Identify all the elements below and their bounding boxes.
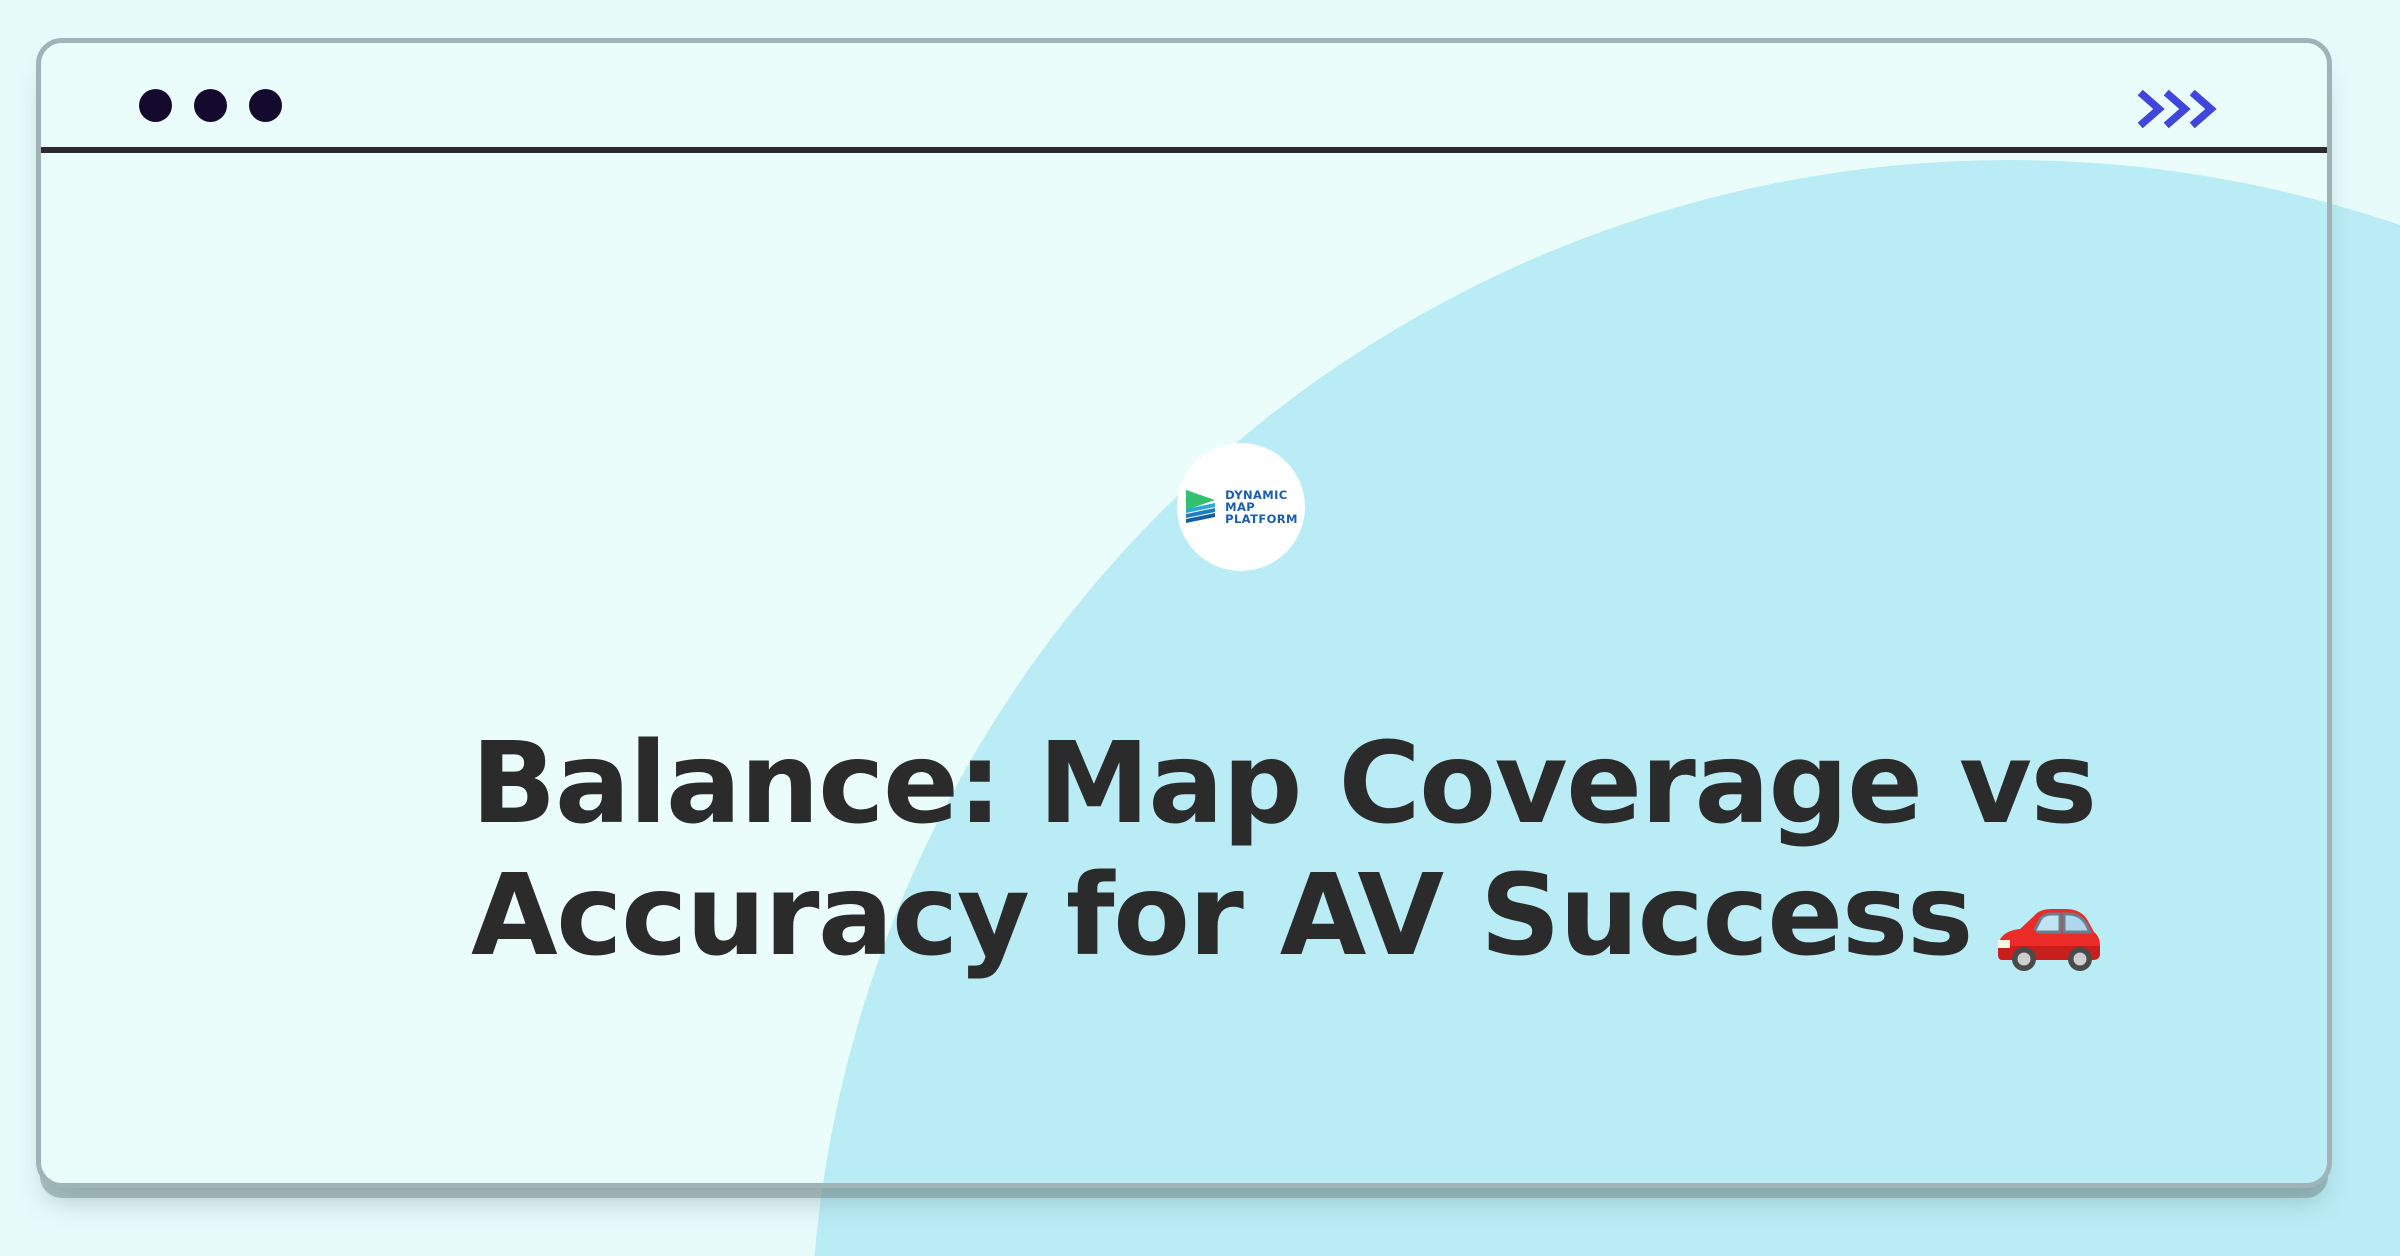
- brand-wordmark: DYNAMIC MAP PLATFORM: [1225, 489, 1298, 525]
- headline-line-2-text: Accuracy for AV Success: [471, 851, 1972, 981]
- double-chevron-right-icon[interactable]: [2135, 87, 2227, 131]
- window-minimize-dot[interactable]: [194, 89, 227, 122]
- headline-line-1: Balance: Map Coverage vs: [471, 718, 2171, 850]
- window-close-dot[interactable]: [139, 89, 172, 122]
- window-traffic-lights: [139, 89, 282, 122]
- brand-logo-badge: DYNAMIC MAP PLATFORM: [1177, 443, 1305, 571]
- window-titlebar: [41, 43, 2327, 147]
- slide-content: DYNAMIC MAP PLATFORM Balance: Map Covera…: [41, 153, 2327, 1183]
- slide-headline: Balance: Map Coverage vs Accuracy for AV…: [471, 718, 2171, 982]
- dynamic-map-platform-logo-icon: [1184, 489, 1218, 525]
- headline-line-2: Accuracy for AV Success: [471, 850, 2171, 982]
- browser-window: DYNAMIC MAP PLATFORM Balance: Map Covera…: [36, 38, 2332, 1188]
- car-emoji: [1990, 898, 2102, 974]
- slide-stage: DYNAMIC MAP PLATFORM Balance: Map Covera…: [0, 0, 2400, 1256]
- brand-logo-lockup: DYNAMIC MAP PLATFORM: [1184, 489, 1298, 525]
- window-maximize-dot[interactable]: [249, 89, 282, 122]
- brand-wordmark-line-3: PLATFORM: [1225, 513, 1298, 525]
